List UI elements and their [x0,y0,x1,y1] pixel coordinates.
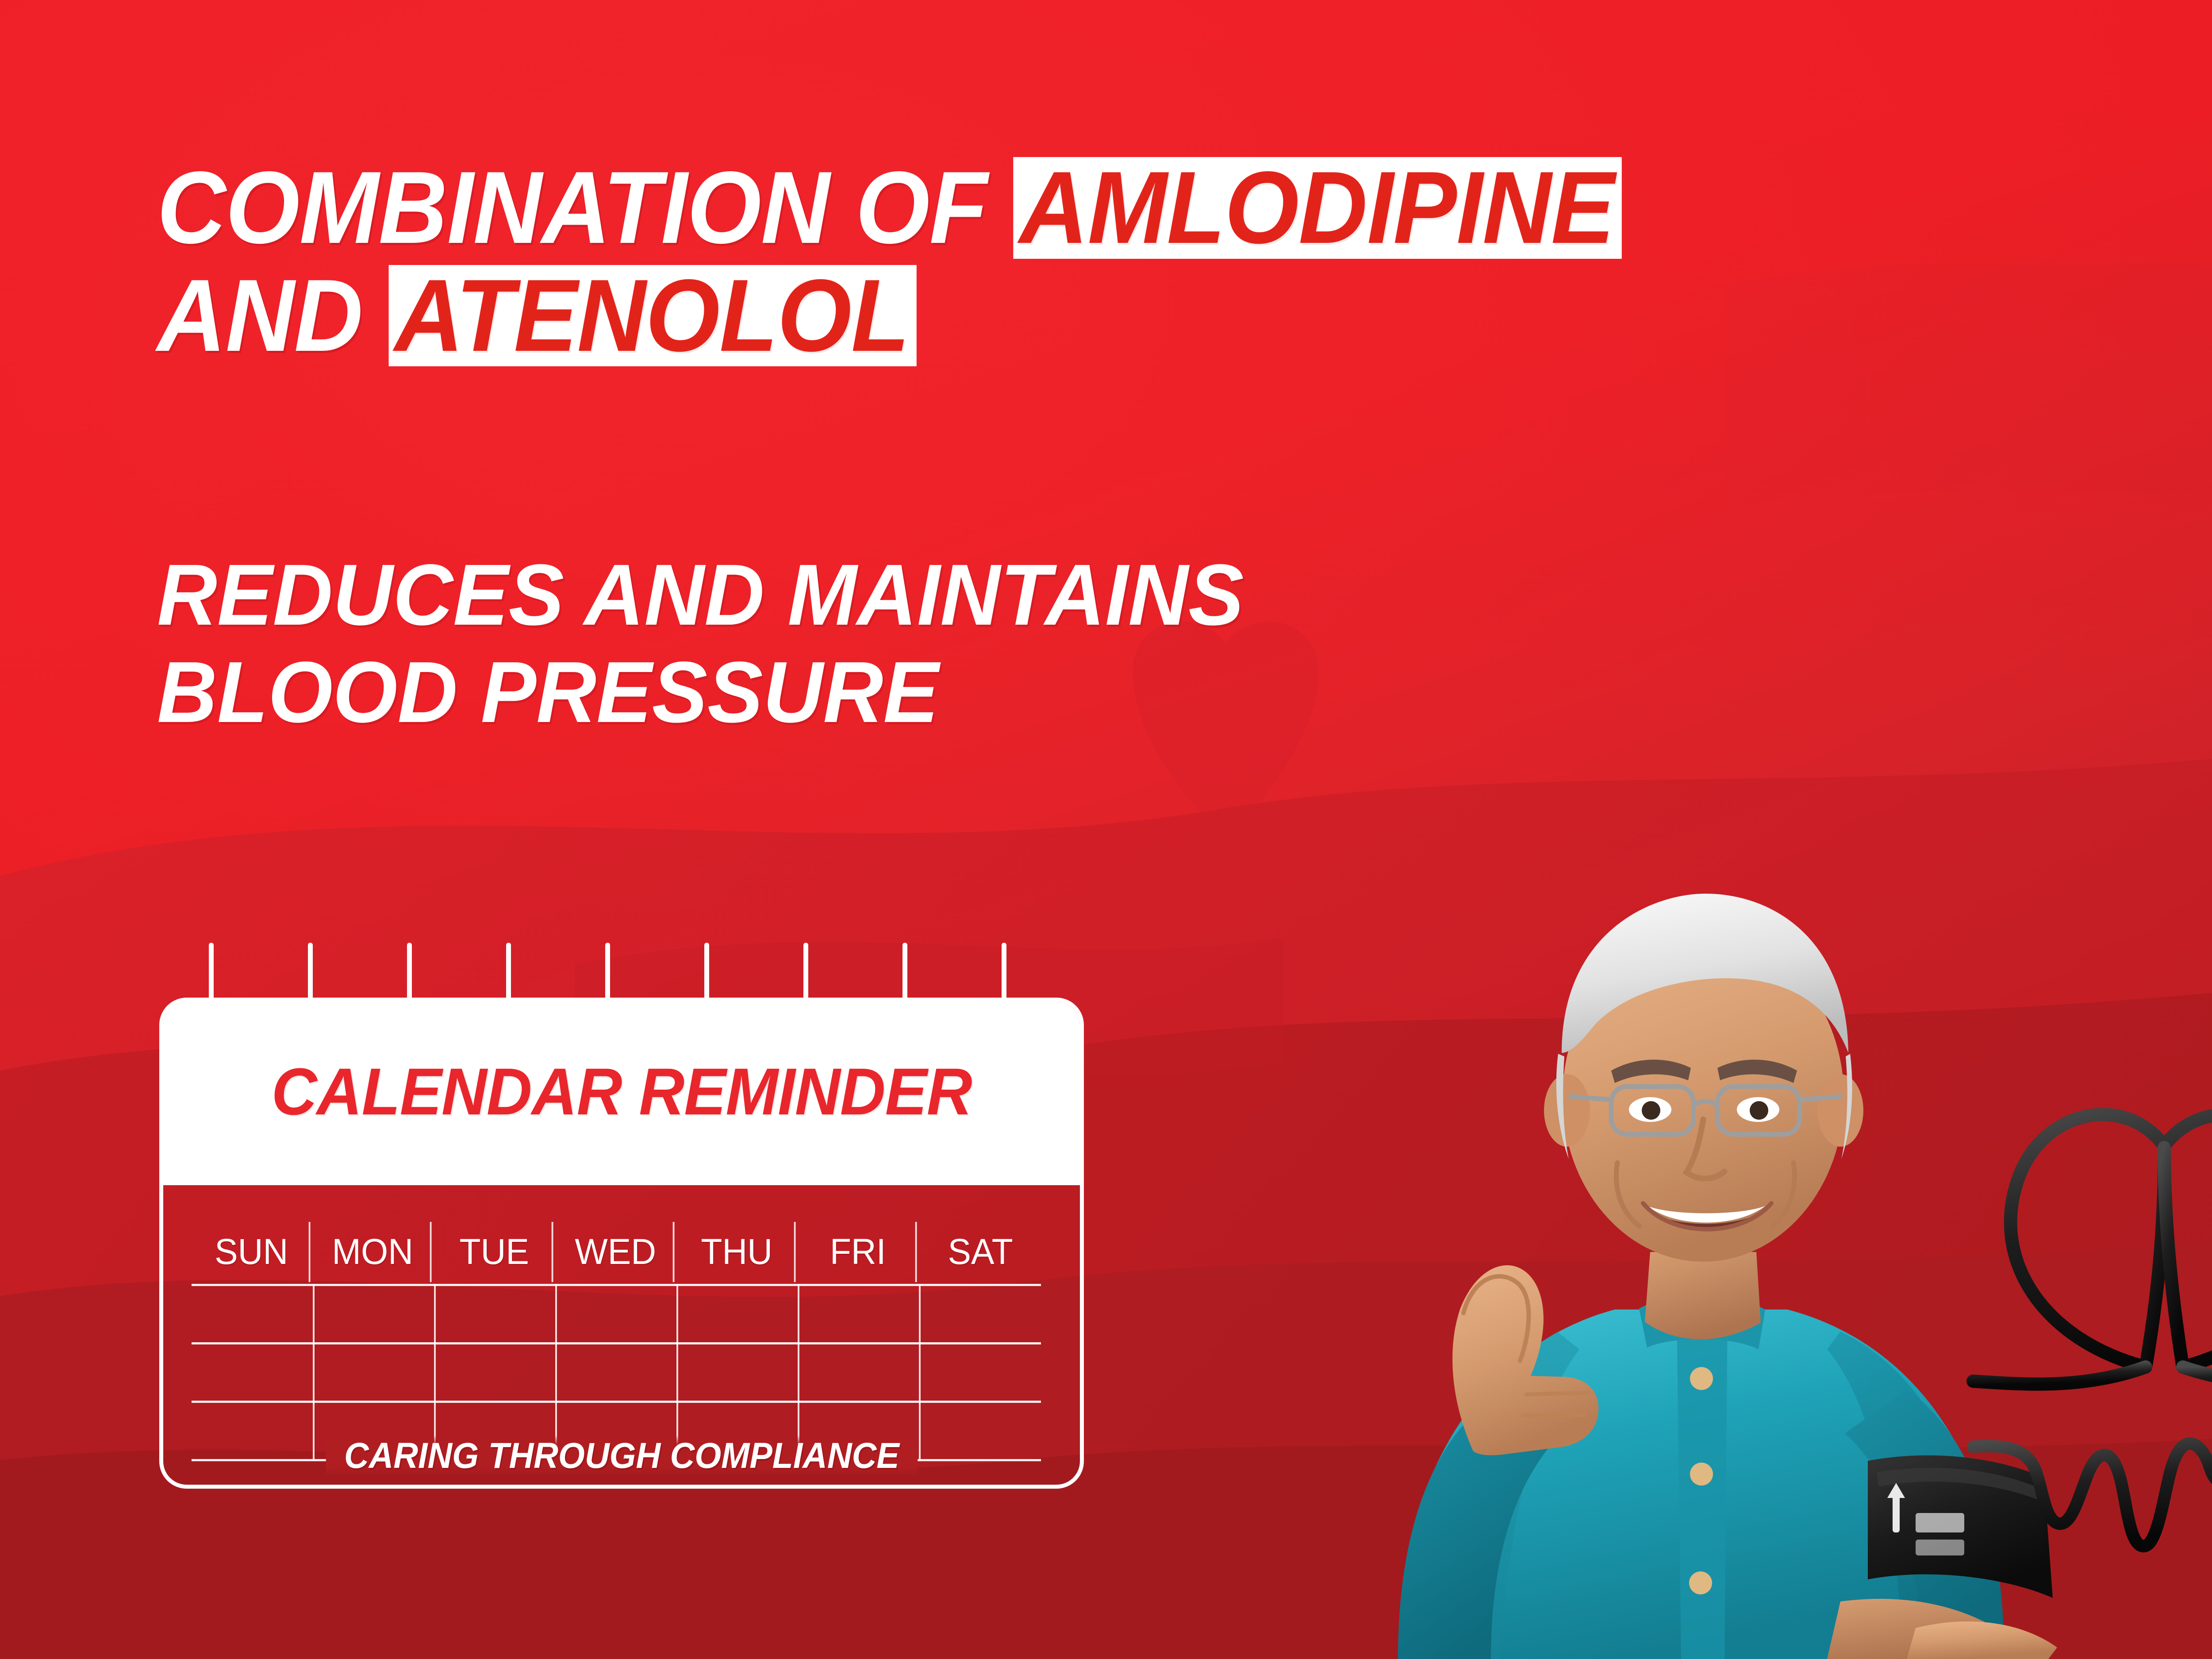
calendar-footer: CARING THROUGH COMPLIANCE [159,1421,1084,1491]
calendar-weekday-header-row: SUN MON TUE WED THU FRI SAT [192,1222,1041,1282]
kurta-button [1689,1571,1712,1594]
kurta-button [1690,1367,1713,1390]
calendar-weekday-wed: WED [558,1222,674,1282]
calendar-weekday-fri: FRI [801,1222,917,1282]
calendar-weekday-mon: MON [315,1222,432,1282]
calendar-header: CALENDAR REMINDER [159,998,1084,1185]
calendar-row-divider [192,1284,1041,1286]
subheadline-line-2: BLOOD PRESSURE [157,644,2212,741]
headline-line-1-prefix: COMBINATION OF [157,150,1014,265]
headline-line-1: COMBINATION OF AMLODIPINE [157,157,2212,259]
calendar-row-divider [192,1342,1041,1344]
calendar-weekday-thu: THU [680,1222,796,1282]
headline-line-2-prefix: AND [157,258,389,373]
bulb-tube [2183,1367,2212,1387]
calendar-title: CALENDAR REMINDER [271,1053,972,1130]
headline-highlight-atenolol: ATENOLOL [389,265,917,367]
subheadline: REDUCES AND MAINTAINS BLOOD PRESSURE [157,546,2212,741]
headline-line-2: AND ATENOLOL [157,265,2212,367]
calendar-weekday-sat: SAT [922,1222,1038,1282]
headline-highlight-amlodipine: AMLODIPINE [1014,157,1622,259]
ecg-waveform-tube [1973,1444,2212,1546]
calendar-weekday-tue: TUE [437,1222,553,1282]
calendar-reminder-card: CALENDAR REMINDER SUN MON TUE WED THU FR… [159,998,1084,1489]
calendar-hanger-rings [159,940,1084,1002]
calendar-body: CALENDAR REMINDER SUN MON TUE WED THU FR… [159,998,1084,1489]
calendar-tagline: CARING THROUGH COMPLIANCE [326,1435,917,1477]
advertisement-banner: COMBINATION OF AMLODIPINE AND ATENOLOL R… [0,0,2212,1659]
cuff-tube [1973,1367,2146,1384]
kurta-button [1690,1463,1713,1486]
resting-hand [1907,1621,2057,1659]
calendar-row-divider [192,1401,1041,1403]
sphygmomanometer [1938,978,2212,1593]
headline: COMBINATION OF AMLODIPINE AND ATENOLOL [157,157,2212,366]
subheadline-line-1: REDUCES AND MAINTAINS [157,546,2212,644]
calendar-weekday-sun: SUN [194,1222,310,1282]
